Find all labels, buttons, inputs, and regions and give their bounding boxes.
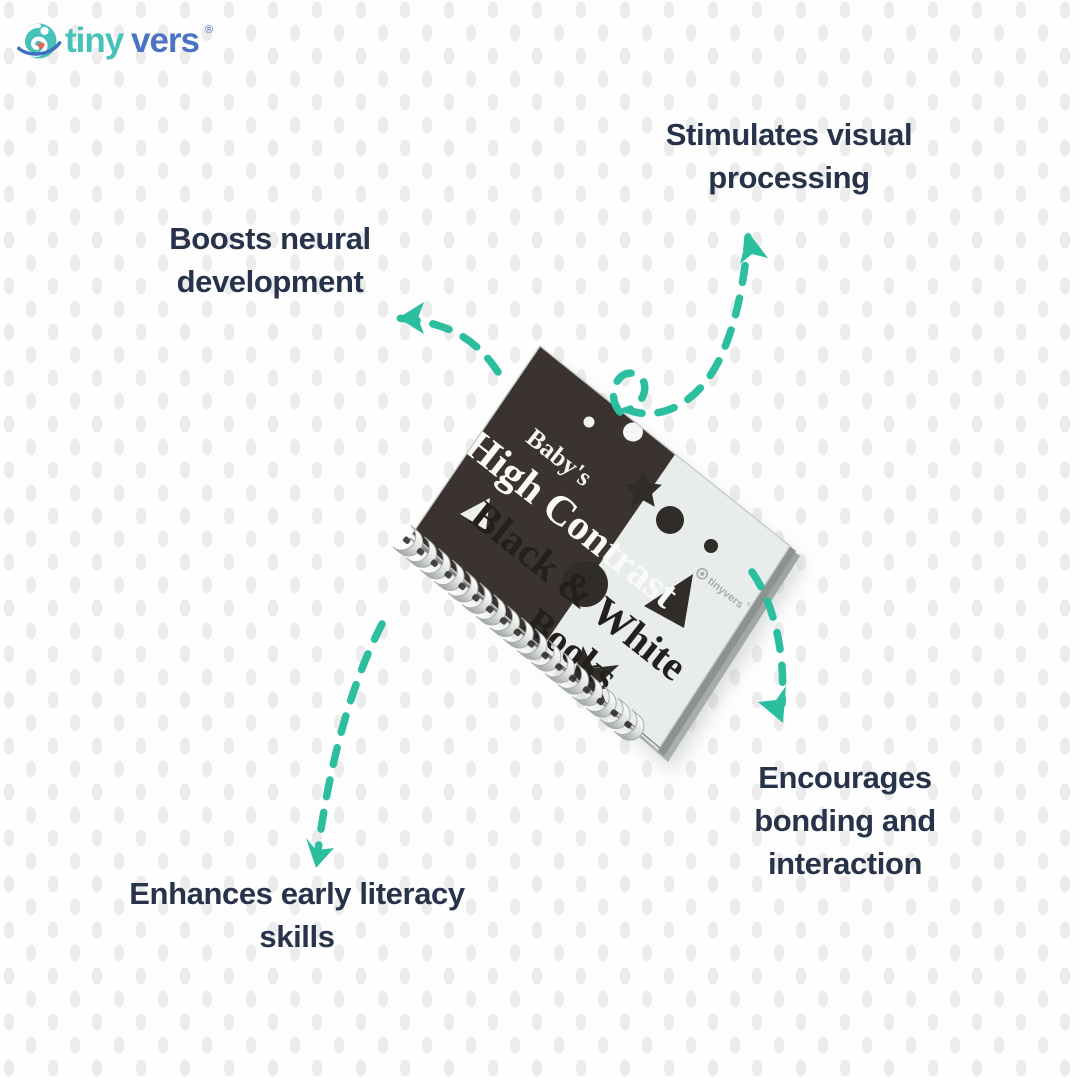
callout-bonding-line-1: Encourages	[700, 757, 990, 800]
cover-circle-medium	[656, 506, 684, 534]
callout-literacy-line-1: Enhances early literacy	[92, 873, 502, 916]
callout-literacy-line-2: skills	[92, 916, 502, 959]
tinyvers-logo-mark-icon	[16, 18, 62, 64]
callout-visual-line-2: processing	[628, 157, 950, 200]
wordmark-tiny: tiny	[65, 21, 125, 60]
brand-wordmark: tiny vers ®	[65, 18, 215, 64]
callout-boosts-neural-development: Boosts neural development	[120, 218, 420, 304]
wordmark-vers: vers	[131, 21, 200, 60]
cover-dot-tiny	[704, 539, 718, 553]
callout-bonding-line-3: interaction	[700, 843, 990, 886]
callout-stimulates-visual-processing: Stimulates visual processing	[628, 114, 950, 200]
callout-encourages-bonding-and-interaction: Encourages bonding and interaction	[700, 757, 990, 885]
brand-logo[interactable]: tiny vers ®	[16, 14, 206, 68]
callout-enhances-early-literacy-skills: Enhances early literacy skills	[92, 873, 502, 959]
callout-neural-line-2: development	[120, 261, 420, 304]
product-book-image: Baby's High Contrast Black & White Books…	[278, 338, 790, 758]
callout-bonding-line-2: bonding and	[700, 800, 990, 843]
cover-dot-white-small	[584, 417, 595, 428]
registered-mark: ®	[205, 24, 213, 36]
callout-visual-line-1: Stimulates visual	[628, 114, 950, 157]
callout-neural-line-1: Boosts neural	[120, 218, 420, 261]
poster-canvas: tiny vers ®	[0, 0, 1080, 1080]
